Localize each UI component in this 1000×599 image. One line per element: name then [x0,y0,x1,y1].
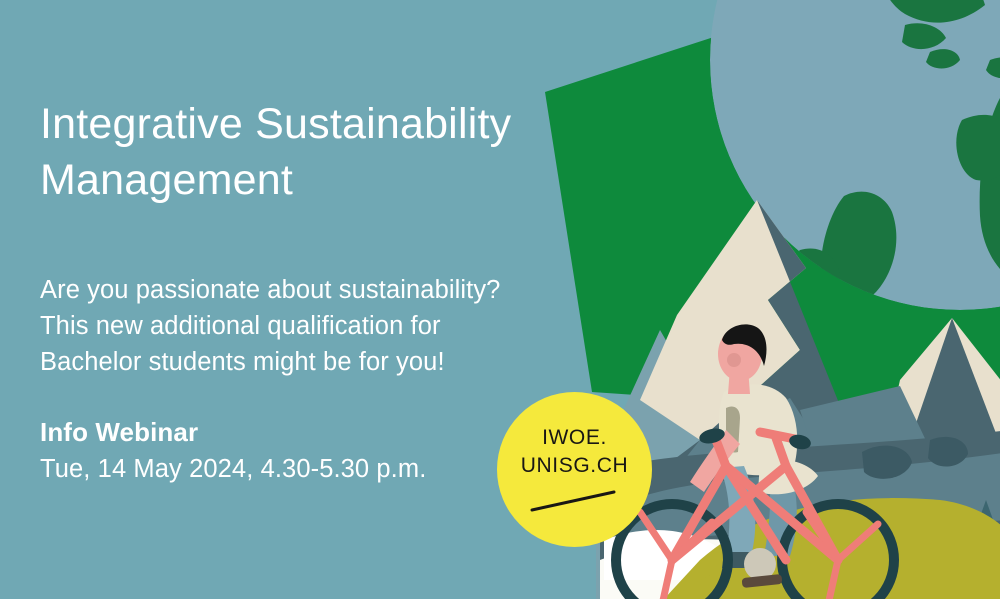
text-content-column: Integrative Sustainability Management Ar… [0,0,560,599]
cyclist-ear [727,353,741,367]
promotional-banner: Integrative Sustainability Management Ar… [0,0,1000,599]
badge-underline-rule [530,488,616,514]
badge-url-label: IWOE. UNISG.CH [497,424,652,481]
intro-paragraph: Are you passionate about sustainability?… [40,272,540,381]
website-badge[interactable]: IWOE. UNISG.CH [497,392,652,547]
event-datetime: Tue, 14 May 2024, 4.30-5.30 p.m. [40,453,520,486]
event-details: Info Webinar Tue, 14 May 2024, 4.30-5.30… [40,416,520,486]
event-heading: Info Webinar [40,416,520,450]
page-title: Integrative Sustainability Management [40,97,540,209]
